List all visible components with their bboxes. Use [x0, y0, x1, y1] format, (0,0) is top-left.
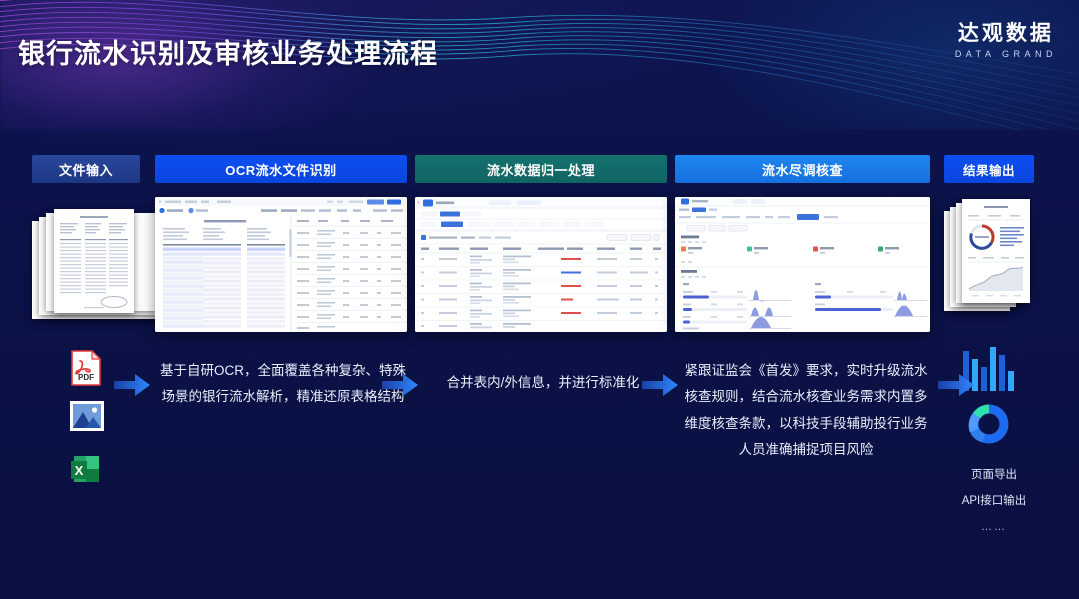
step-header-ocr[interactable]: OCR流水文件识别	[155, 155, 407, 183]
flow-step-result-output: 结果输出	[944, 155, 1034, 451]
step-description-normalization: 合并表内/外信息，并进行标准化	[420, 370, 666, 396]
output-list: 页面导出 API接口输出 ……	[944, 462, 1044, 540]
step-description-ocr: 基于自研OCR，全面覆盖各种复杂、特殊场景的银行流水解析，精准还原表格结构	[160, 358, 406, 411]
output-chart-icons	[944, 345, 1034, 451]
arrow-right-icon	[114, 374, 148, 394]
file-type-icons: PDF	[32, 349, 140, 489]
normalization-app-screenshot[interactable]	[415, 197, 667, 332]
arrow-right-icon	[938, 374, 972, 394]
pdf-file-icon[interactable]: PDF	[70, 349, 102, 385]
logo-text-en: DATA GRAND	[955, 49, 1057, 59]
step-header-result-output[interactable]: 结果输出	[944, 155, 1034, 183]
output-item-page-export: 页面导出	[944, 462, 1044, 488]
flow-step-ocr: OCR流水文件识别	[155, 155, 407, 332]
slide-root: 银行流水识别及审核业务处理流程 达观数据 DATA GRAND 文件输入	[0, 0, 1079, 599]
image-file-icon[interactable]	[70, 401, 102, 437]
blue-glow	[699, 0, 1079, 130]
document-stack	[32, 207, 140, 335]
dashboard-screenshot-svg	[675, 197, 930, 332]
step-header-file-input[interactable]: 文件输入	[32, 155, 140, 183]
report-stack	[944, 197, 1034, 327]
output-item-api-export: API接口输出	[944, 488, 1044, 514]
svg-text:X: X	[75, 463, 84, 478]
step-header-due-diligence[interactable]: 流水尽调核查	[675, 155, 930, 183]
ocr-app-screenshot[interactable]	[155, 197, 407, 332]
arrow-right-icon	[382, 374, 416, 394]
flow-step-due-diligence: 流水尽调核查	[675, 155, 930, 332]
due-diligence-dashboard-screenshot[interactable]	[675, 197, 930, 332]
arrow-right-icon	[642, 374, 676, 394]
report-thumbnail	[962, 199, 1030, 303]
brand-logo: 达观数据 DATA GRAND	[955, 22, 1057, 59]
report-page-front	[962, 199, 1030, 303]
donut-chart-icon	[967, 402, 1011, 451]
normalization-screenshot-svg	[415, 197, 667, 332]
logo-text-zh: 达观数据	[955, 22, 1057, 45]
page-title: 银行流水识别及审核业务处理流程	[18, 32, 438, 71]
ocr-screenshot-svg	[155, 197, 407, 332]
excel-file-icon[interactable]: X	[70, 453, 102, 489]
document-page-front	[54, 209, 134, 313]
flow-step-normalization: 流水数据归一处理	[415, 155, 667, 332]
output-item-ellipsis: ……	[944, 515, 1044, 540]
step-header-normalization[interactable]: 流水数据归一处理	[415, 155, 667, 183]
flow-step-file-input: 文件输入	[32, 155, 140, 489]
bank-statement-thumbnail	[54, 209, 134, 313]
step-description-due-diligence: 紧跟证监会《首发》要求，实时升级流水核查规则，结合流水核查业务需求内置多维度核查…	[680, 358, 932, 463]
svg-text:PDF: PDF	[78, 373, 94, 382]
